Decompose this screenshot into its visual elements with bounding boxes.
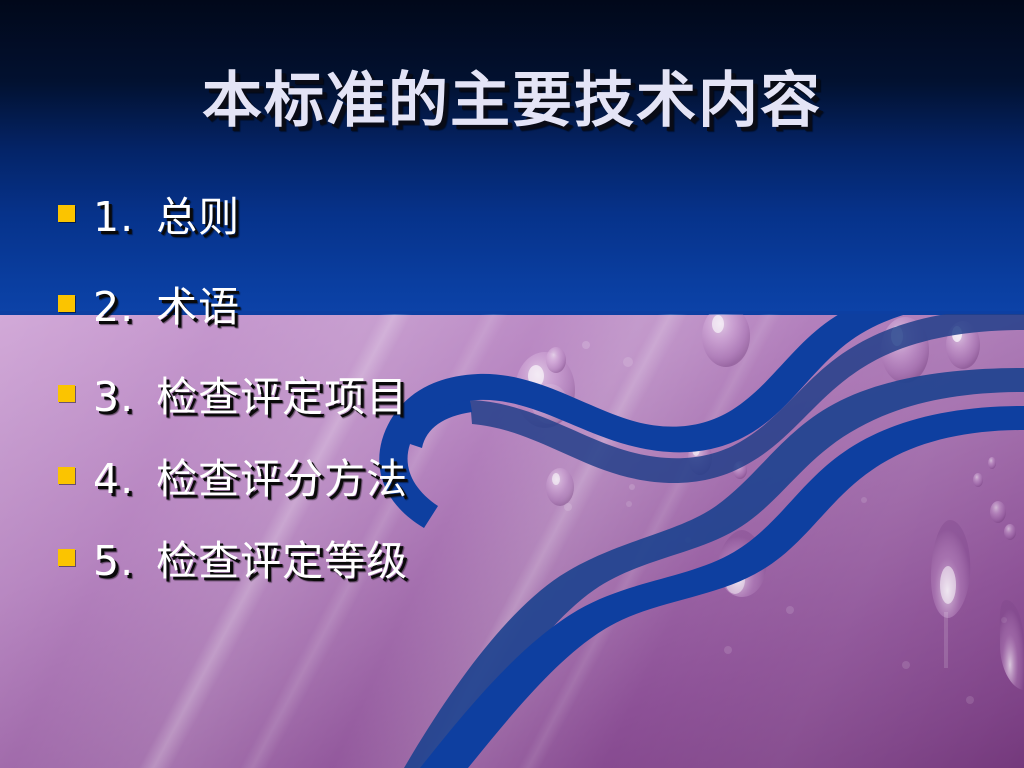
list-item-number: 5.: [93, 537, 134, 585]
list-item-number: 3.: [93, 373, 134, 421]
list-item[interactable]: 3.检查评定项目: [58, 362, 758, 424]
list-item-label: 检查评定等级: [156, 537, 408, 585]
bullet-list: 1.总则 2.术语 3.检查评定项目 4.检查评分方法 5.检查评定等级: [58, 182, 758, 588]
square-bullet-icon: [58, 385, 75, 402]
list-item-label: 术语: [156, 283, 240, 331]
page-title: 本标准的主要技术内容: [0, 52, 1024, 139]
list-item-number: 1.: [93, 193, 134, 241]
list-item[interactable]: 1.总则: [58, 182, 758, 244]
list-item-label: 检查评分方法: [156, 455, 408, 503]
square-bullet-icon: [58, 205, 75, 222]
square-bullet-icon: [58, 467, 75, 484]
list-item[interactable]: 2.术语: [58, 272, 758, 334]
list-item[interactable]: 4.检查评分方法: [58, 444, 758, 506]
square-bullet-icon: [58, 549, 75, 566]
list-item-label: 总则: [156, 193, 240, 241]
list-item-number: 4.: [93, 455, 134, 503]
square-bullet-icon: [58, 295, 75, 312]
list-item-label: 检查评定项目: [156, 373, 408, 421]
list-item[interactable]: 5.检查评定等级: [58, 526, 758, 588]
list-item-number: 2.: [93, 283, 134, 331]
presentation-slide: 本标准的主要技术内容 1.总则 2.术语 3.检查评定项目 4.检查评分方法: [0, 0, 1024, 768]
